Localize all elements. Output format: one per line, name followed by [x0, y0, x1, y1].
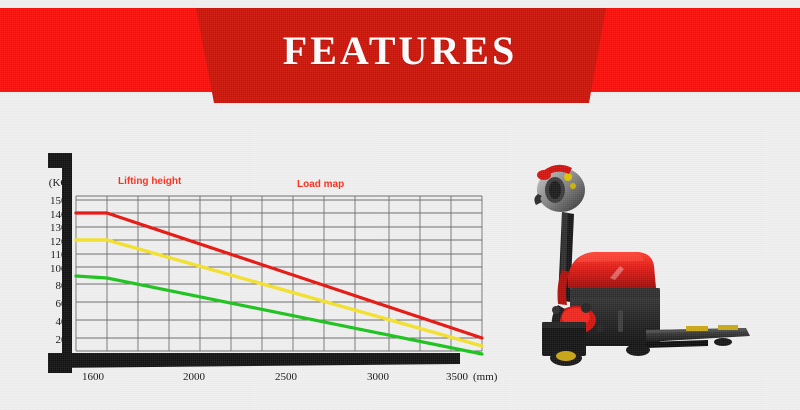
y-tick-1500: 1500: [50, 195, 73, 207]
y-tick-200: 200: [56, 334, 73, 346]
forks: [646, 325, 750, 348]
product-image-electric-pallet-truck: [518, 150, 758, 380]
x-tick-2000: 2000: [183, 371, 206, 383]
y-tick-1100: 1100: [50, 249, 72, 261]
annotation-load-map: Load map: [297, 179, 344, 190]
page-title: FEATURES: [0, 8, 800, 92]
x-axis-unit: (mm): [473, 371, 498, 383]
features-banner: FEATURES: [0, 8, 800, 104]
x-tick-3000: 3000: [367, 371, 390, 383]
x-tick-2500: 2500: [275, 371, 298, 383]
annotation-lifting-height: Lifting height: [118, 176, 182, 187]
x-tick-1600: 1600: [82, 371, 105, 383]
chart-series: [76, 213, 482, 354]
x-axis: [48, 353, 460, 368]
y-tick-800: 800: [56, 280, 73, 292]
red-hood: [568, 252, 656, 288]
x-tick-3500: 3500: [446, 371, 469, 383]
x-tick-labels: 1600 2000 2500 3000 3500 (mm): [82, 371, 498, 383]
horn-button-icon: [564, 173, 572, 181]
series-line-red: [76, 213, 482, 338]
y-tick-1200: 1200: [50, 236, 73, 248]
y-tick-1400: 1400: [50, 209, 73, 221]
y-axis-unit: (KG): [49, 177, 73, 189]
y-tick-400: 400: [56, 316, 73, 328]
series-line-yellow: [76, 240, 482, 346]
y-tick-1300: 1300: [50, 222, 73, 234]
fork-marking: [686, 326, 708, 331]
tiller-control-head: [534, 165, 585, 212]
y-tick-1000: 1000: [50, 263, 73, 275]
load-capacity-chart: (KG) 1500 1400 1300 1200 1100 1000 800 6…: [0, 108, 520, 408]
y-tick-600: 600: [56, 298, 73, 310]
